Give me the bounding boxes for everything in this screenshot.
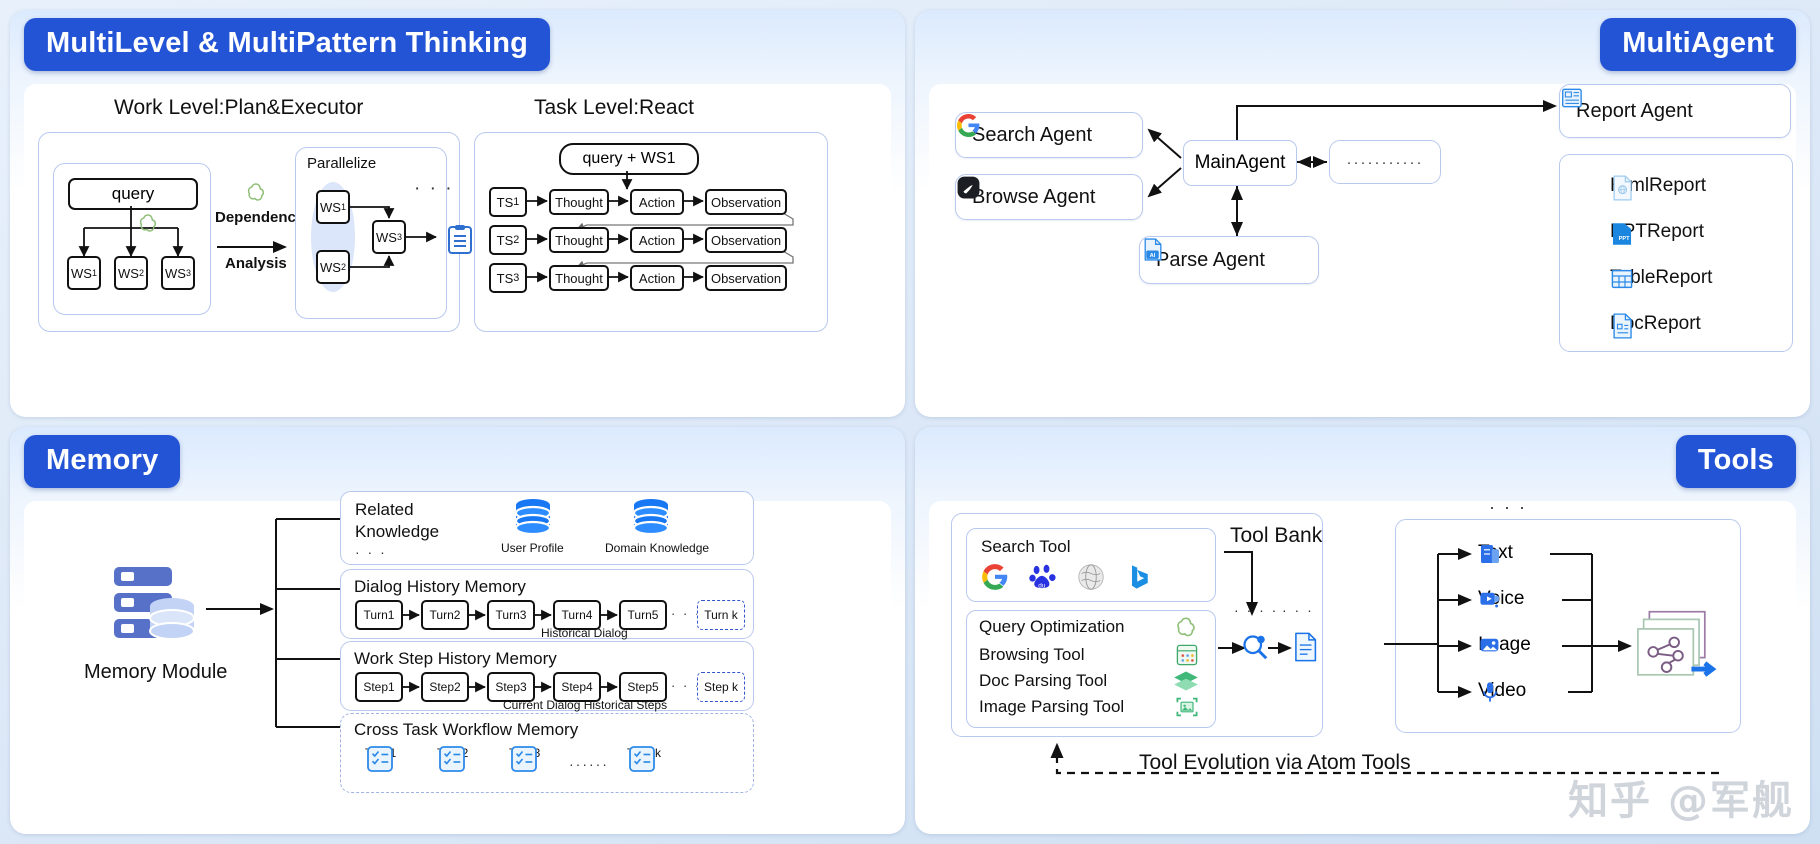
crosstask-header: Cross Task Workflow Memory [354,720,578,740]
tool-evolution-label: Tool Evolution via Atom Tools [1139,751,1411,775]
react-action-3: Action [630,265,684,291]
panel-tools: Tools Search Tool [915,427,1810,834]
dependency-label-line2: Analysis [225,255,287,272]
parallel-ellipsis: · · · [414,178,454,200]
task-item-1: Task1 [365,744,396,760]
doc-file-icon [1610,313,1634,339]
panel-title-tools: Tools [1676,435,1796,488]
report-item-ppt: PPT PPTReport [1610,221,1704,243]
parallel-arrows [296,148,446,318]
memory-row-worksteps: Work Step History Memory Step1 Step2 Ste… [340,641,754,711]
memory-row-crosstask: Cross Task Workflow Memory Task1 [340,713,754,793]
agent-label-report: Report Agent [1576,100,1693,123]
ws-node-2: WS2 [114,256,148,290]
memory-row-dialog: Dialog History Memory Turn1 Turn2 Turn3 … [340,569,754,639]
panel-title-memory: Memory [24,435,180,488]
task-item-2: Task2 [437,744,468,760]
work-level-pane: query WS1 [38,132,460,332]
task-item-3: Task3 [509,744,540,760]
ts-node-2: TS2 [489,225,527,255]
tools-inner: Search Tool du [929,501,1796,820]
task-level-title: Task Level:React [534,96,694,120]
report-item-table: TableReport [1610,267,1712,289]
ws-node-3: WS3 [161,256,195,290]
knowledge-store-label-1: Domain Knowledge [605,541,709,555]
task-checklist-icon [437,744,467,774]
task-checklist-icon [365,744,395,774]
checklist-icon [447,225,473,255]
crosstask-separator: ······ [569,756,609,772]
knowledge-line2: Knowledge [355,522,439,542]
workstep-caption: Current Dialog Historical Steps [503,698,667,712]
ts-node-1: TS1 [489,187,527,217]
knowledge-dots: · · · [355,544,387,560]
report-item-html: HtmlReport [1610,175,1706,197]
knowledge-store-label-0: User Profile [501,541,564,555]
task-level-pane: query + WS1 [474,132,828,332]
reports-container: HtmlReport PPT PPTReport [1559,154,1793,352]
work-level-title: Work Level:Plan&Executor [114,96,363,120]
plan-subpane: query WS1 [53,163,211,315]
memory-row-knowledge: Related Knowledge · · · User Profile [340,491,754,565]
html-file-icon [1610,175,1634,201]
panel-title-multiagent: MultiAgent [1600,18,1796,71]
diagram-grid: MultiLevel & MultiPattern Thinking Work … [0,0,1820,844]
dialog-caption: Historical Dialog [541,626,628,640]
react-thought-1: Thought [549,189,609,215]
react-observation-1: Observation [705,189,787,215]
svg-text:PPT: PPT [1619,236,1631,242]
parallelize-subpane: Parallelize WS1 WS2 WS3 [295,147,447,319]
memory-inner: Memory Module Related Knowledge · · · [24,501,891,820]
react-thought-2: Thought [549,227,609,253]
user-profile-db-icon [511,498,555,538]
react-action-2: Action [630,227,684,253]
agent-card-report: Report Agent [1559,84,1791,138]
thinking-inner: Work Level:Plan&Executor Task Level:Reac… [24,84,891,403]
task-checklist-icon [627,744,657,774]
task-checklist-icon [509,744,539,774]
task-item-k: Task k [627,744,661,760]
openai-icon-dependency [244,181,268,205]
panel-multiagent: MultiAgent Search Agent Browse Agent Mai [915,10,1810,417]
table-file-icon [1610,267,1634,291]
react-observation-2: Observation [705,227,787,253]
report-icon [1560,85,1586,111]
react-observation-3: Observation [705,265,787,291]
react-thought-3: Thought [549,265,609,291]
dependency-label-line1: Dependency [215,209,304,226]
panel-title-thinking: MultiLevel & MultiPattern Thinking [24,18,550,71]
plan-arrows [54,164,210,314]
panel-memory: Memory Memory Module [10,427,905,834]
ts-node-3: TS3 [489,263,527,293]
knowledge-line1: Related [355,500,414,520]
panel-thinking: MultiLevel & MultiPattern Thinking Work … [10,10,905,417]
react-action-1: Action [630,189,684,215]
report-item-doc: DocReport [1610,313,1701,335]
domain-knowledge-db-icon [629,498,673,538]
multiagent-inner: Search Agent Browse Agent MainAgent ····… [929,84,1796,403]
openai-icon [136,212,160,236]
ws-node-1: WS1 [67,256,101,290]
ppt-file-icon: PPT [1610,221,1634,247]
